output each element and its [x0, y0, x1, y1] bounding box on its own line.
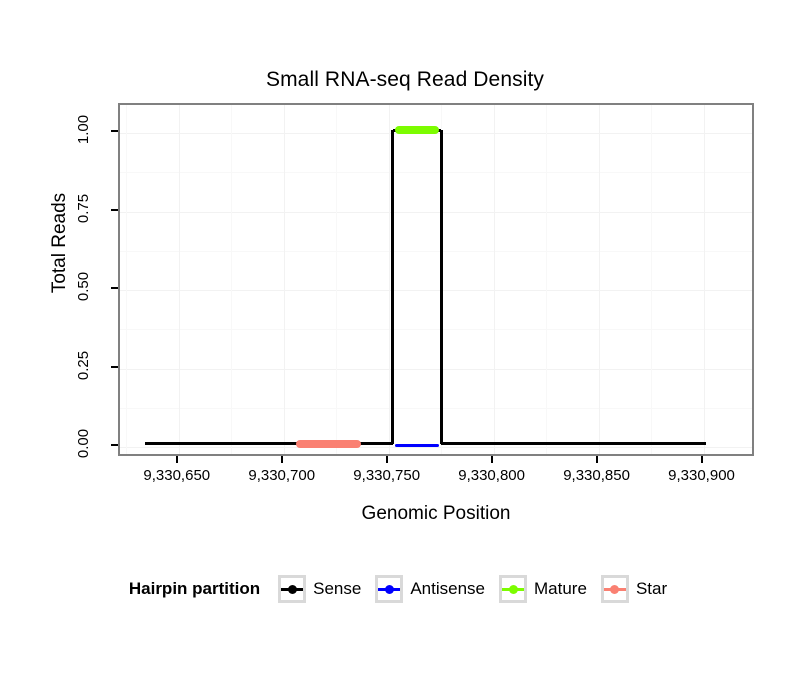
legend-entry-star[interactable]: Star	[601, 575, 667, 603]
legend-entry-sense[interactable]: Sense	[278, 575, 361, 603]
gridline-x	[389, 105, 390, 454]
gridline-x	[284, 105, 285, 454]
x-tick	[281, 456, 283, 463]
gridline-x	[704, 105, 705, 454]
gridline-x	[126, 105, 127, 454]
gridline-y	[120, 172, 752, 173]
series-segment-sense	[441, 442, 705, 445]
y-tick	[111, 209, 118, 211]
gridline-x	[651, 105, 652, 454]
plot-area	[120, 105, 752, 454]
legend-key-icon	[499, 575, 527, 603]
gridline-y	[120, 251, 752, 252]
x-tick-label: 9,330,850	[563, 467, 630, 484]
legend: Hairpin partition SenseAntisenseMatureSt…	[0, 575, 810, 603]
legend-label: Antisense	[410, 579, 485, 599]
legend-title: Hairpin partition	[129, 579, 260, 599]
gridline-x	[179, 105, 180, 454]
y-tick	[111, 366, 118, 368]
gridline-y	[120, 329, 752, 330]
x-tick-label: 9,330,700	[248, 467, 315, 484]
legend-key-dot	[610, 585, 619, 594]
y-tick-label: 1.00	[0, 121, 98, 138]
y-tick-label: 0.00	[0, 435, 98, 452]
series-segment-sense	[391, 130, 394, 444]
x-tick-label: 9,330,750	[353, 467, 420, 484]
gridline-y	[120, 212, 752, 213]
y-tick	[111, 444, 118, 446]
gridline-x	[231, 105, 232, 454]
gridline-x	[336, 105, 337, 454]
x-tick	[176, 456, 178, 463]
legend-key-dot	[385, 585, 394, 594]
y-tick-label: 0.50	[0, 278, 98, 295]
y-axis-title: Total Reads	[49, 143, 71, 343]
gridline-x	[494, 105, 495, 454]
series-segment-star	[296, 440, 361, 448]
gridline-x	[546, 105, 547, 454]
x-tick-label: 9,330,650	[143, 467, 210, 484]
x-tick	[386, 456, 388, 463]
legend-label: Mature	[534, 579, 587, 599]
x-tick	[701, 456, 703, 463]
gridline-y	[120, 369, 752, 370]
legend-key-icon	[601, 575, 629, 603]
chart-title: Small RNA-seq Read Density	[0, 68, 810, 92]
gridline-y	[120, 447, 752, 448]
x-tick-label: 9,330,900	[668, 467, 735, 484]
x-tick-label: 9,330,800	[458, 467, 525, 484]
gridline-y	[120, 290, 752, 291]
x-tick	[596, 456, 598, 463]
x-tick	[491, 456, 493, 463]
legend-label: Sense	[313, 579, 361, 599]
legend-key-icon	[278, 575, 306, 603]
chart-figure: Small RNA-seq Read Density Total Reads 9…	[0, 0, 810, 690]
legend-label: Star	[636, 579, 667, 599]
gridline-x	[599, 105, 600, 454]
gridline-y	[120, 408, 752, 409]
plot-panel	[118, 103, 754, 456]
legend-entry-mature[interactable]: Mature	[499, 575, 587, 603]
x-axis-title: Genomic Position	[118, 503, 754, 525]
y-tick-label: 0.25	[0, 357, 98, 374]
series-segment-mature	[395, 126, 439, 134]
legend-key-icon	[375, 575, 403, 603]
series-segment-antisense	[395, 444, 439, 447]
y-tick	[111, 287, 118, 289]
y-tick	[111, 130, 118, 132]
legend-key-dot	[288, 585, 297, 594]
legend-entry-antisense[interactable]: Antisense	[375, 575, 485, 603]
y-tick-label: 0.75	[0, 200, 98, 217]
legend-key-dot	[509, 585, 518, 594]
series-segment-sense	[440, 130, 443, 444]
